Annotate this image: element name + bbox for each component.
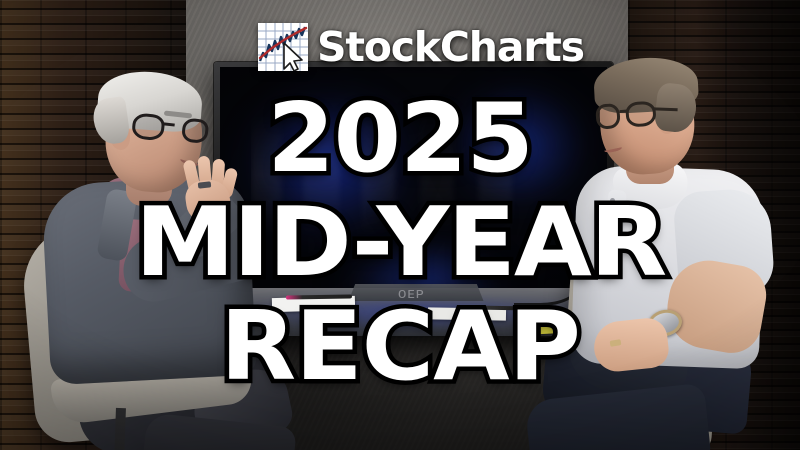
video-thumbnail: ᴏᴇᴘ [0, 0, 800, 450]
left-host-hair [91, 96, 131, 146]
laptop-logo: ᴏᴇᴘ [398, 285, 425, 302]
left-host-hand [180, 156, 238, 226]
stock-chart-cursor-icon [258, 23, 308, 71]
brand-logo: StockCharts [258, 21, 584, 73]
glasses-lens [625, 101, 657, 128]
glasses-lens [131, 112, 166, 141]
glasses-lens [181, 117, 209, 144]
glasses-lens [595, 103, 621, 130]
glasses-icon [595, 99, 675, 132]
person-guest-right [548, 40, 800, 450]
person-host-left [0, 72, 284, 450]
glasses-temple [654, 107, 678, 111]
brand-wordmark: StockCharts [317, 27, 584, 68]
